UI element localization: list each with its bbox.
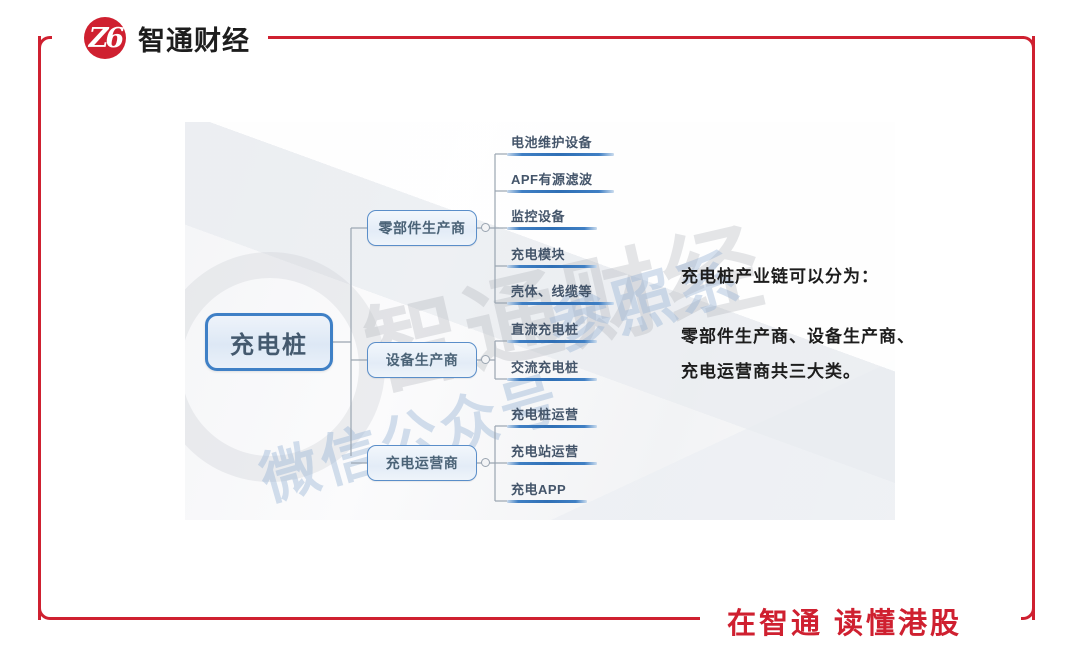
leaf-label: 监控设备 [507, 206, 597, 227]
leaf-label: 交流充电桩 [507, 357, 597, 378]
description-title: 充电桩产业链可以分为： [681, 262, 1001, 287]
mindmap-leaf[interactable]: 监控设备 [507, 206, 597, 230]
mindmap-root-node[interactable]: 充电桩 [205, 313, 333, 371]
mindmap-branch-node-1[interactable]: 零部件生产商 [367, 210, 477, 246]
leaf-underline [507, 340, 597, 343]
logo-monogram: Z6 [84, 17, 126, 59]
collapse-toggle-3[interactable] [481, 458, 490, 467]
leaf-underline [507, 302, 614, 305]
frame-line-right [1032, 36, 1035, 620]
mindmap-leaf[interactable]: 交流充电桩 [507, 357, 597, 381]
leaf-underline [507, 462, 597, 465]
mindmap-leaf[interactable]: 充电站运营 [507, 441, 597, 465]
zhitong-logo-icon: Z6 [84, 17, 126, 59]
mindmap-branch-node-3[interactable]: 充电运营商 [367, 445, 477, 481]
collapse-toggle-1[interactable] [481, 223, 490, 232]
leaf-label: 充电桩运营 [507, 404, 597, 425]
leaf-underline [507, 153, 614, 156]
leaf-underline [507, 265, 597, 268]
leaf-underline [507, 500, 587, 503]
mindmap-leaf[interactable]: 直流充电桩 [507, 319, 597, 343]
mindmap-leaf[interactable]: 壳体、线缆等 [507, 281, 614, 305]
description-line-2: 充电运营商共三大类。 [681, 354, 1001, 389]
leaf-underline [507, 378, 597, 381]
collapse-toggle-2[interactable] [481, 355, 490, 364]
frame-line-left [38, 36, 41, 620]
mindmap-branch-node-2[interactable]: 设备生产商 [367, 342, 477, 378]
leaf-label: APF有源滤波 [507, 169, 614, 190]
mindmap-leaf[interactable]: 充电模块 [507, 244, 597, 268]
mindmap-leaf[interactable]: 电池维护设备 [507, 132, 614, 156]
mindmap-leaf[interactable]: APF有源滤波 [507, 169, 614, 193]
leaf-label: 电池维护设备 [507, 132, 614, 153]
leaf-underline [507, 190, 614, 193]
brand-name: 智通财经 [138, 19, 250, 58]
brand-header: Z6 智通财经 [84, 17, 250, 59]
footer-slogan: 在智通 读懂港股 [727, 600, 962, 642]
frame-line-bottom [52, 617, 700, 620]
leaf-label: 充电模块 [507, 244, 597, 265]
frame-line-top [268, 36, 1024, 39]
mindmap-leaf[interactable]: 充电桩运营 [507, 404, 597, 428]
leaf-label: 充电APP [507, 479, 587, 500]
description-body: 零部件生产商、设备生产商、 充电运营商共三大类。 [681, 319, 1001, 389]
description-block: 充电桩产业链可以分为： 零部件生产商、设备生产商、 充电运营商共三大类。 [681, 262, 1001, 389]
leaf-label: 直流充电桩 [507, 319, 597, 340]
description-line-1: 零部件生产商、设备生产商、 [681, 319, 1001, 354]
leaf-underline [507, 425, 597, 428]
leaf-label: 充电站运营 [507, 441, 597, 462]
leaf-label: 壳体、线缆等 [507, 281, 614, 302]
mindmap-leaf[interactable]: 充电APP [507, 479, 587, 503]
leaf-underline [507, 227, 597, 230]
